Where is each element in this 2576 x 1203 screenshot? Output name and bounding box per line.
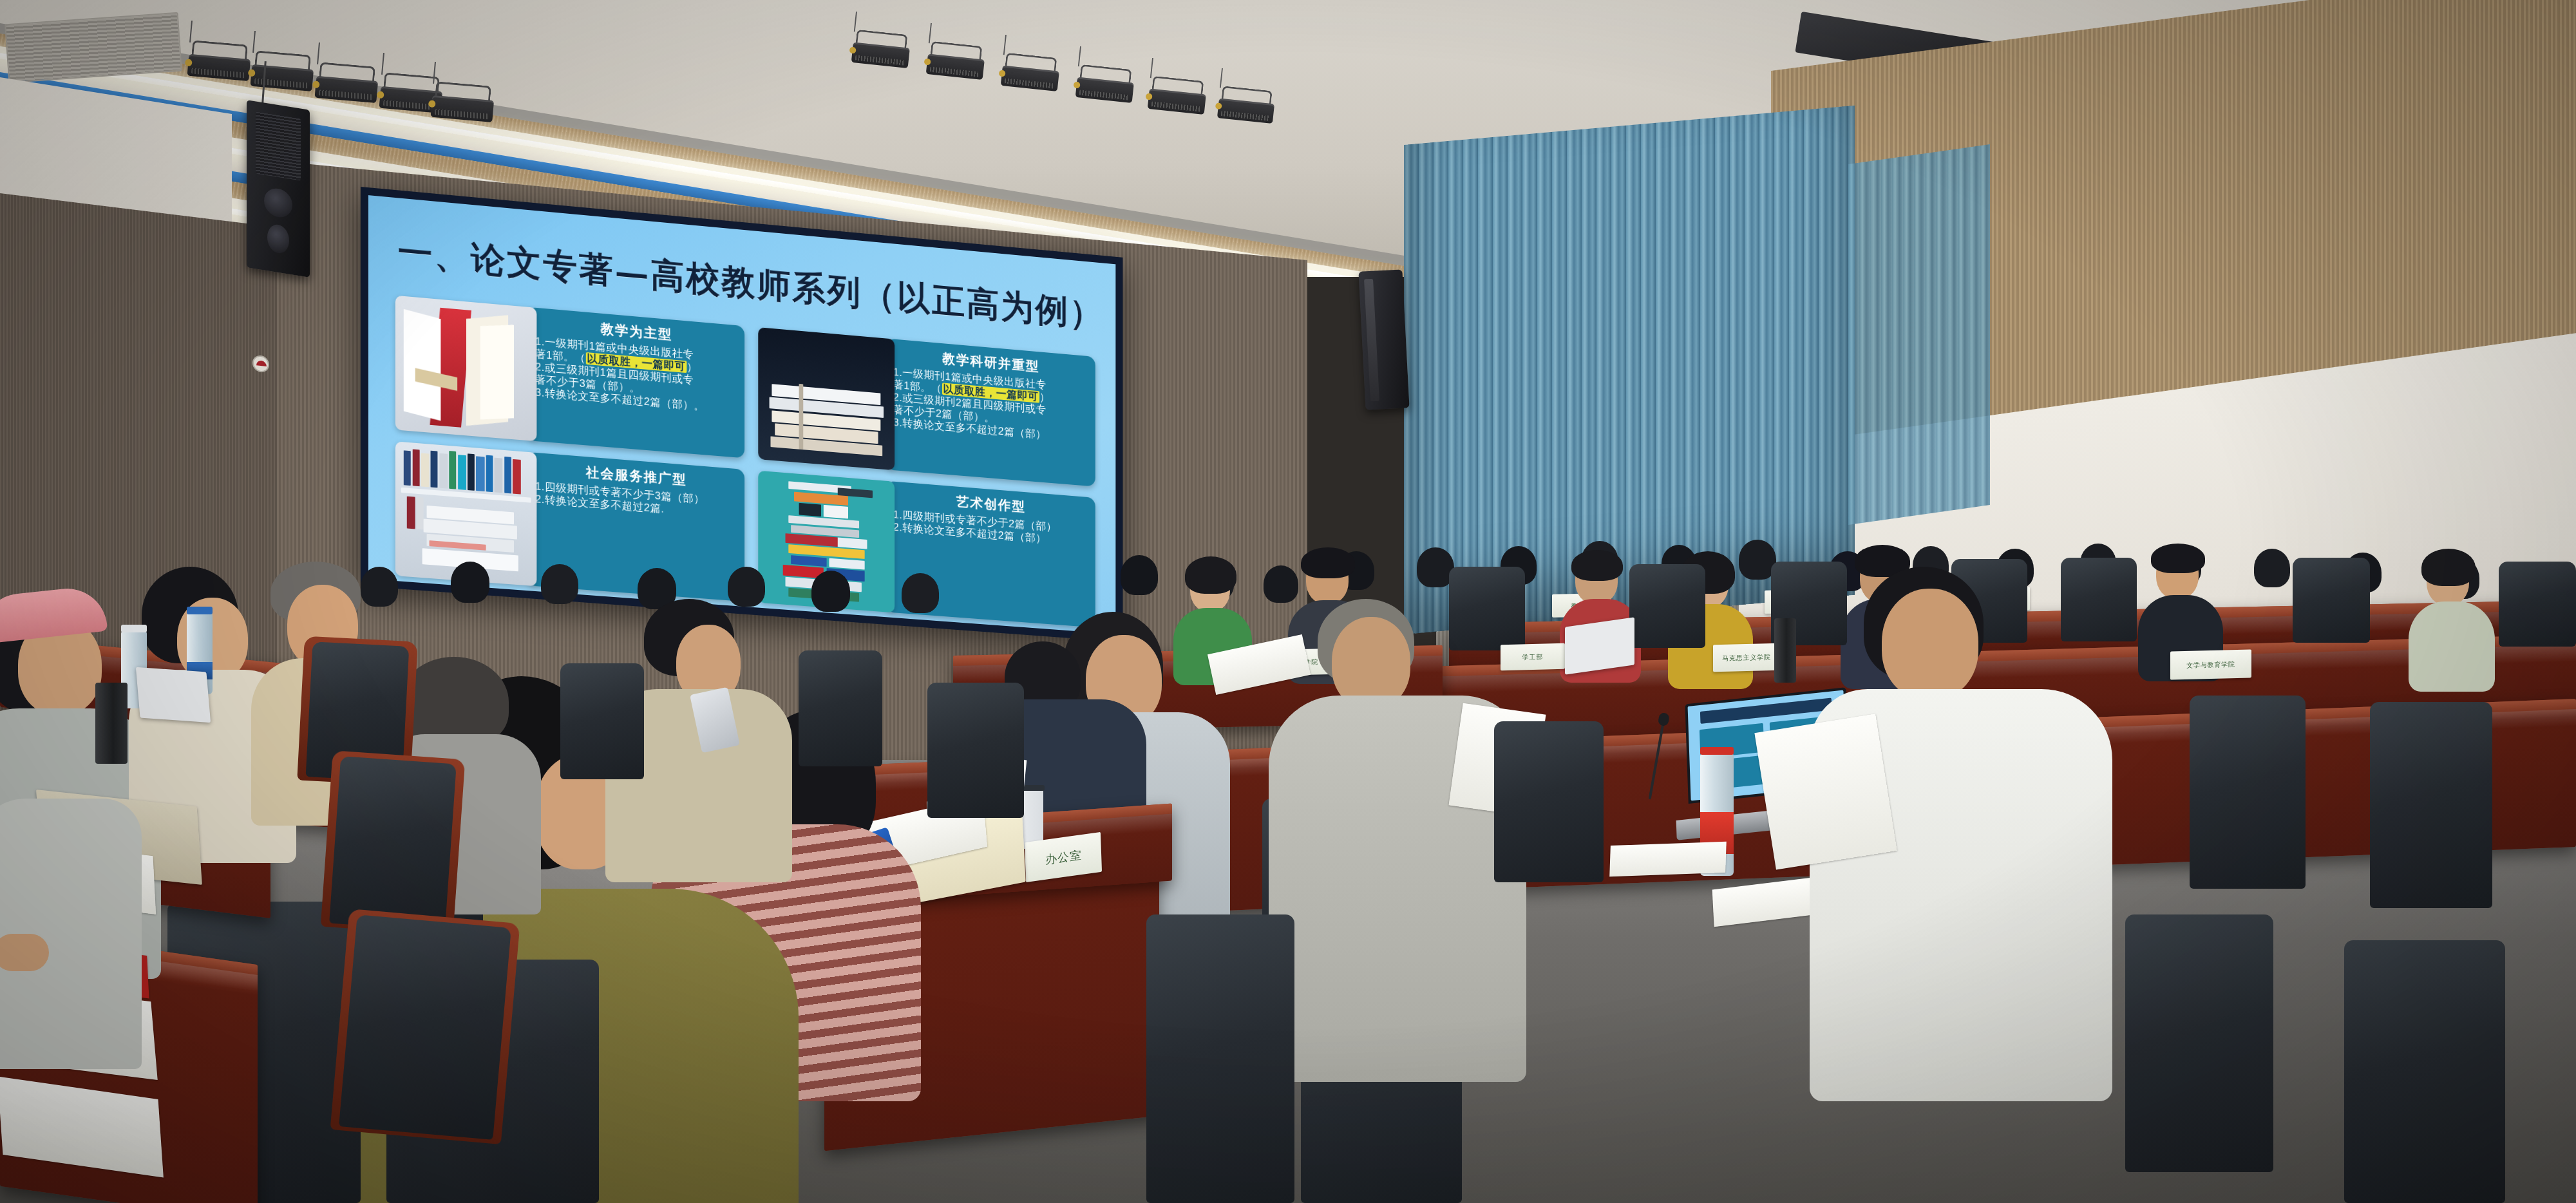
name-tent-text: 办公室 [1045,847,1082,867]
thermos-bottle [1774,618,1796,683]
tablet-device[interactable] [136,667,211,723]
conference-chair[interactable] [2061,558,2137,641]
conference-chair[interactable] [2370,702,2492,908]
wall-speaker [247,100,310,278]
conference-chair[interactable] [1494,721,1604,882]
card-body: 教学科研并重型 1.一级期刊1篇或中央级出版社专 著1部。（以质取胜，一篇即可）… [886,338,1095,486]
conference-chair[interactable] [329,756,457,931]
slide-card-teaching-focused: 教学为主型 1.一级期刊1篇或中央级出版社专 著1部。（以质取胜，一篇即可） 2… [395,296,744,459]
blue-curtain-secondary [1848,144,1990,525]
conference-chair[interactable] [2190,696,2306,889]
name-tent-card: 学工部 [1501,643,1565,671]
slide-card-teaching-research-balanced: 教学科研并重型 1.一级期刊1篇或中央级出版社专 著1部。（以质取胜，一篇即可）… [758,327,1095,486]
conference-chair[interactable] [2293,558,2370,643]
stacked-books-photo [758,327,895,470]
open-book-photo [395,296,536,441]
paper-handout [1754,714,1897,869]
conference-chair[interactable] [2499,562,2576,647]
conference-chair[interactable] [1449,567,1525,650]
conference-chair[interactable] [2125,914,2273,1172]
conference-room-photo: 一、论文专著—高校教师系列（以正高为例） 教学为主型 1.一级期刊1篇或中央级出… [0,0,2576,1203]
conference-chair[interactable] [560,663,644,779]
conference-chair[interactable] [799,650,882,766]
name-tent-text: 马克思主义学院 [1722,652,1771,662]
card-body: 教学为主型 1.一级期刊1篇或中央级出版社专 著1部。（以质取胜，一篇即可） 2… [527,307,744,459]
tablet-device[interactable] [1565,617,1634,674]
thermos-bottle [95,683,128,764]
conference-chair[interactable] [1629,564,1705,648]
conference-chair[interactable] [1146,914,1294,1203]
conference-chair[interactable] [2344,940,2505,1203]
name-tent-text: 学工部 [1522,652,1543,661]
name-tent-card: 马克思主义学院 [1713,643,1780,672]
ceiling-air-vent [5,12,182,84]
blue-curtain [1404,106,1855,634]
conference-chair[interactable] [339,914,511,1140]
line-array-speaker [1358,269,1409,410]
name-tent-text: 文学与教育学院 [2186,659,2235,669]
conference-chair[interactable] [927,683,1024,818]
name-tent-card: 文学与教育学院 [2170,649,2251,679]
paper-handout [1609,842,1727,876]
